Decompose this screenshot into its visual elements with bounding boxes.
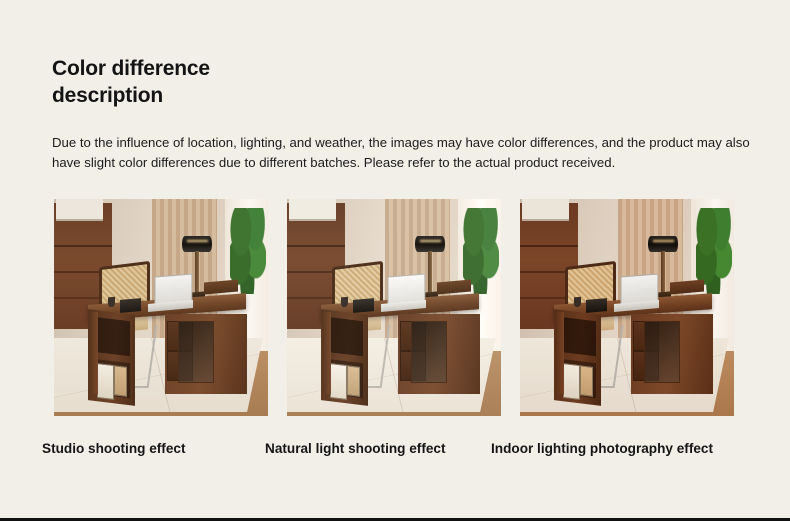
desk-clock — [120, 298, 141, 313]
desk-scene-illustration — [520, 199, 734, 416]
table-lamp-shade — [415, 236, 445, 252]
desk-cup — [574, 296, 581, 306]
lamp-glow — [187, 240, 208, 242]
desk-clock — [586, 298, 607, 313]
desk-clock — [353, 298, 374, 313]
desk-leg — [323, 312, 330, 394]
page-title: Color difference description — [52, 56, 452, 110]
desk-cup — [108, 296, 115, 306]
wall-shelf-box — [56, 199, 103, 221]
shelf-picture-frame-b — [114, 365, 127, 397]
caption-natural-light: Natural light shooting effect — [265, 441, 446, 456]
lamp-glow — [420, 240, 441, 242]
shelf-picture-frame-a — [563, 363, 580, 400]
caption-studio: Studio shooting effect — [42, 441, 185, 456]
wall-shelf-box — [522, 199, 569, 221]
gallery-image-indoor-lighting[interactable] — [520, 199, 734, 416]
page-title-line-2: description — [52, 83, 452, 110]
shelf-picture-frame-a — [330, 363, 347, 400]
wall-shelf-box — [289, 199, 336, 221]
desk-scene-illustration — [54, 199, 268, 416]
table-lamp-shade — [648, 236, 678, 252]
cabinet-glass-door — [644, 321, 680, 384]
gallery-captions: Studio shooting effect Natural light sho… — [0, 441, 790, 465]
color-difference-page: Color difference description Due to the … — [0, 0, 790, 521]
disclaimer-text: Due to the influence of location, lighti… — [52, 133, 766, 173]
desk-cup — [341, 296, 348, 306]
desk-leg — [90, 312, 97, 394]
gallery-image-natural-light[interactable] — [287, 199, 501, 416]
desk-scene-illustration — [287, 199, 501, 416]
lamp-glow — [653, 240, 674, 242]
product-image-gallery — [54, 199, 734, 416]
table-lamp-stem — [195, 251, 198, 294]
table-lamp-shade — [182, 236, 212, 252]
page-title-line-1: Color difference — [52, 56, 452, 83]
shelf-picture-frame-b — [347, 365, 360, 397]
shelf-picture-frame-a — [97, 363, 114, 400]
cabinet-glass-door — [411, 321, 447, 384]
cabinet-glass-door — [178, 321, 214, 384]
table-lamp-stem — [428, 251, 431, 294]
table-lamp-stem — [661, 251, 664, 294]
caption-indoor-lighting: Indoor lighting photography effect — [491, 441, 713, 456]
gallery-image-studio[interactable] — [54, 199, 268, 416]
shelf-picture-frame-b — [580, 365, 593, 397]
desk-leg — [556, 312, 563, 394]
